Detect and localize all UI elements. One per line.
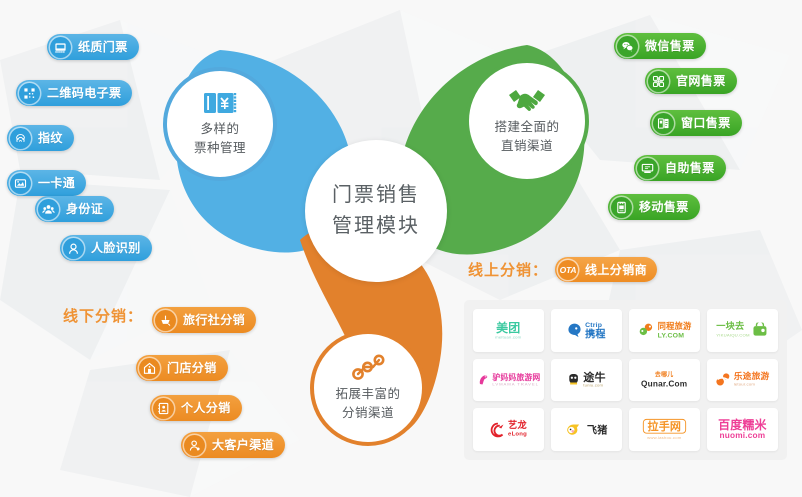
pill-website-sales[interactable]: 官网售票 xyxy=(645,68,737,94)
logo-cn: 途牛 xyxy=(584,372,606,383)
pill-id-card[interactable]: 身份证 xyxy=(35,196,114,222)
network-icon xyxy=(350,353,386,381)
online-distribution-caption: 线上分销： xyxy=(468,259,548,280)
logo-cn: 百度糯米 xyxy=(718,419,767,431)
pill-label: 微信售票 xyxy=(645,40,695,52)
kiosk-icon xyxy=(637,158,658,179)
logo-card-tuniu[interactable]: 途牛 tuniu.com xyxy=(551,359,622,402)
logo-en: www.lashou.com xyxy=(647,436,681,440)
mobile-icon xyxy=(611,197,632,218)
handshake-icon xyxy=(507,86,547,114)
pill-label: 纸质门票 xyxy=(78,41,128,53)
logo-en: YIKUAIQU.COM xyxy=(717,334,750,338)
logo-cn: 携程 xyxy=(585,329,606,339)
lobe-orange-line1: 拓展丰富的 xyxy=(335,385,400,404)
personal-icon xyxy=(153,398,174,419)
lobe-blue-line1: 多样的 xyxy=(200,120,239,139)
lobe-ticket-types[interactable]: 多样的 票种管理 xyxy=(163,67,277,181)
logo-card-meituan[interactable]: 美团 meituan.com xyxy=(473,309,544,352)
logo-cn: 一块去 xyxy=(717,323,750,332)
pill-travel-agency[interactable]: 旅行社分销 xyxy=(152,307,256,333)
logo-cn: 驴妈妈旅游网 xyxy=(492,373,540,381)
pill-label: 一卡通 xyxy=(38,177,75,189)
pill-label: 自助售票 xyxy=(665,162,715,174)
offline-distribution-caption: 线下分销： xyxy=(63,305,143,326)
pill-label: 二维码电子票 xyxy=(47,87,121,99)
pill-qrcode-ticket[interactable]: 二维码电子票 xyxy=(16,80,132,106)
pill-label: 人脸识别 xyxy=(91,242,141,254)
pill-label: 旅行社分销 xyxy=(183,314,245,326)
fliggy-pig-icon xyxy=(565,422,582,437)
pill-fingerprint[interactable]: 指纹 xyxy=(7,125,74,151)
logo-cn: 乐途旅游 xyxy=(734,373,770,382)
face-recognition-icon xyxy=(63,238,84,259)
card-icon xyxy=(10,173,31,194)
store-icon xyxy=(139,358,160,379)
counter-icon xyxy=(653,113,674,134)
pill-label: 门店分销 xyxy=(167,362,217,374)
travel-agency-icon xyxy=(155,310,176,331)
ota-label: 线上分销商 xyxy=(585,261,647,278)
pill-personal-distribution[interactable]: 个人分销 xyxy=(150,395,242,421)
wechat-icon xyxy=(617,36,638,57)
logo-cn: 去哪儿 xyxy=(655,372,674,378)
lobe-distribution[interactable]: 拓展丰富的 分销渠道 xyxy=(310,330,426,446)
paper-ticket-icon xyxy=(50,37,71,58)
logo-cn: 飞猪 xyxy=(587,422,608,437)
logo-en: Qunar.Com xyxy=(641,380,687,388)
logo-en: nuomi.com xyxy=(720,432,766,440)
logo-cn: 同程旅游 xyxy=(657,322,691,330)
pill-counter-sales[interactable]: 窗口售票 xyxy=(650,110,742,136)
pill-label: 移动售票 xyxy=(639,201,689,213)
logo-card-lvmama[interactable]: 驴妈妈旅游网 LVMAMA TRAVEL xyxy=(473,359,544,402)
pill-label: 身份证 xyxy=(66,203,103,215)
logo-cn: 艺龙 xyxy=(508,422,527,431)
lobe-blue-line2: 票种管理 xyxy=(194,139,246,158)
lobe-orange-line2: 分销渠道 xyxy=(342,404,394,423)
center-title-line1: 门票销售 xyxy=(332,180,420,211)
logo-en: letour.com xyxy=(734,383,770,387)
logo-card-fliggy[interactable]: 飞猪 xyxy=(551,408,622,451)
logo-en: LVMAMA TRAVEL xyxy=(492,383,540,387)
pill-store-distribution[interactable]: 门店分销 xyxy=(136,355,228,381)
logo-cn: 美团 xyxy=(496,321,520,333)
pill-key-account-channel[interactable]: 大客户渠道 xyxy=(181,432,285,458)
ota-badge-pill[interactable]: OTA 线上分销商 xyxy=(555,257,657,282)
lobe-green-line2: 直销渠道 xyxy=(501,137,553,156)
pill-label: 官网售票 xyxy=(676,75,726,87)
qrcode-icon xyxy=(19,83,40,104)
logo-card-letour[interactable]: 乐途旅游 letour.com xyxy=(707,359,778,402)
elong-swirl-icon xyxy=(490,422,505,437)
logo-en: meituan.com xyxy=(495,335,521,339)
logo-en: LY.COM xyxy=(657,332,691,339)
center-hub[interactable]: 门票销售 管理模块 xyxy=(305,140,447,282)
yikuaiqu-bag-icon xyxy=(753,323,769,338)
pill-wechat-sales[interactable]: 微信售票 xyxy=(614,33,706,59)
tuniu-calf-icon xyxy=(567,373,581,387)
logo-card-ly[interactable]: 同程旅游 LY.COM xyxy=(629,309,700,352)
pill-paper-ticket[interactable]: 纸质门票 xyxy=(47,34,139,60)
logo-card-yikuaiqu[interactable]: 一块去 YIKUAIQU.COM xyxy=(707,309,778,352)
key-account-icon xyxy=(184,435,205,456)
website-icon xyxy=(648,71,669,92)
ctrip-dolphin-icon xyxy=(567,323,583,339)
pill-face-recognition[interactable]: 人脸识别 xyxy=(60,235,152,261)
logo-card-nuomi[interactable]: 百度糯米 nuomi.com xyxy=(707,408,778,451)
pill-label: 个人分销 xyxy=(181,402,231,414)
fingerprint-icon xyxy=(10,128,31,149)
logo-card-qunar[interactable]: 去哪儿 Qunar.Com xyxy=(629,359,700,402)
lvmama-donkey-icon xyxy=(477,374,490,387)
ota-icon: OTA xyxy=(558,260,578,280)
logo-cn: 拉手网 xyxy=(643,419,686,434)
logo-en: eLong xyxy=(508,432,527,438)
ly-mascot-icon xyxy=(638,323,655,339)
pill-label: 大客户渠道 xyxy=(212,439,274,451)
logo-en: Ctrip xyxy=(585,322,606,329)
logo-card-ctrip[interactable]: Ctrip 携程 xyxy=(551,309,622,352)
logo-en: tuniu.com xyxy=(584,384,606,388)
logo-card-elong[interactable]: 艺龙 eLong xyxy=(473,408,544,451)
logo-card-lashou[interactable]: 拉手网 www.lashou.com xyxy=(629,408,700,451)
pill-allinone-card[interactable]: 一卡通 xyxy=(7,170,86,196)
pill-label: 指纹 xyxy=(38,132,63,144)
letour-swirl-icon xyxy=(715,373,731,387)
ota-logo-grid: 美团 meituan.com Ctrip 携程 同程旅 xyxy=(464,300,787,460)
center-title-line2: 管理模块 xyxy=(332,211,420,242)
lobe-direct-sales[interactable]: 搭建全面的 直销渠道 xyxy=(465,59,589,183)
ticket-icon xyxy=(203,90,237,116)
pill-label: 窗口售票 xyxy=(681,117,731,129)
lobe-green-line1: 搭建全面的 xyxy=(494,118,559,137)
pill-self-service-sales[interactable]: 自助售票 xyxy=(634,155,726,181)
infographic-canvas: 多样的 票种管理 搭建全面的 直销渠道 拓展丰富的 分销渠道 门票销售 xyxy=(0,0,802,497)
id-card-icon xyxy=(38,199,59,220)
pill-mobile-sales[interactable]: 移动售票 xyxy=(608,194,700,220)
